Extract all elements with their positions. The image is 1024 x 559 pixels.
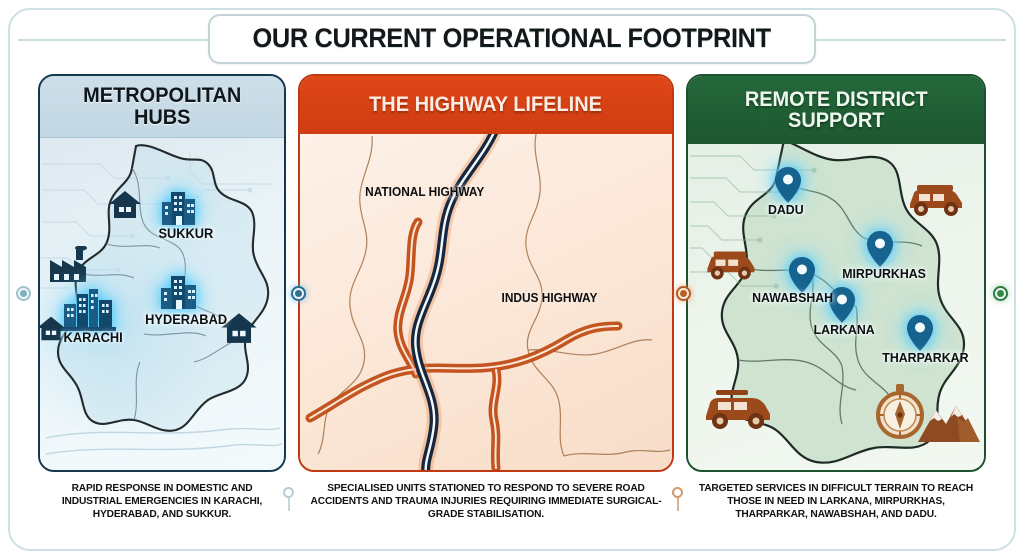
connector-node-right	[993, 286, 1008, 301]
panel-card-2: THE HIGHWAY LIFELINE	[298, 74, 674, 472]
map-pin-icon	[866, 230, 894, 268]
map-label-larkana: LARKANA	[814, 322, 875, 337]
caption-node-2-icon	[672, 487, 683, 498]
house-icon	[40, 314, 66, 342]
map-label-nawabshah: NAWABSHAH	[752, 290, 833, 305]
map-highway: NATIONAL HIGHWAY INDUS HIGHWAY	[300, 134, 672, 470]
panel-caption-2: SPECIALISED UNITS STATIONED TO RESPOND T…	[304, 482, 669, 520]
factory-icon	[48, 246, 90, 284]
map-pin-icon	[774, 166, 802, 204]
panel-title-1: METROPOLITAN HUBS	[83, 85, 241, 128]
map-label-national-highway: NATIONAL HIGHWAY	[365, 186, 484, 200]
map-label-karachi: KARACHI	[64, 330, 123, 345]
panel-header-2: THE HIGHWAY LIFELINE	[300, 76, 672, 134]
city-buildings-icon	[158, 184, 204, 230]
jeep-icon	[904, 182, 966, 218]
panel-card-1: METROPOLITAN HUBS	[38, 74, 286, 472]
map-label-tharparkar: THARPARKAR	[882, 350, 968, 365]
map-label-sukkur: SUKKUR	[158, 226, 213, 241]
house-icon	[108, 188, 142, 220]
panel-caption-1: RAPID RESPONSE IN DOMESTIC AND INDUSTRIA…	[42, 482, 283, 520]
map-label-indus-highway: INDUS HIGHWAY	[502, 292, 598, 306]
caption-stem-1	[288, 497, 290, 511]
city-buildings-icon	[158, 272, 200, 314]
suv-icon	[702, 388, 774, 432]
map-remote-districts: DADU MIRPURKHAS NAWABSHAH	[688, 144, 984, 470]
panel-caption-3: TARGETED SERVICES IN DIFFICULT TERRAIN T…	[691, 482, 982, 520]
connector-node-orange	[676, 286, 691, 301]
panel-title-3: REMOTE DISTRICT SUPPORT	[745, 89, 928, 132]
panel-highway-lifeline[interactable]: THE HIGHWAY LIFELINE	[298, 74, 674, 520]
map-pin-icon	[906, 314, 934, 352]
panel-card-3: REMOTE DISTRICT SUPPORT	[686, 74, 986, 472]
mountains-icon	[916, 388, 982, 444]
caption-stem-2	[677, 497, 679, 511]
panel-header-1: METROPOLITAN HUBS	[40, 76, 284, 138]
map-pin-icon	[788, 256, 816, 294]
panels-row: METROPOLITAN HUBS	[0, 74, 1024, 544]
map-label-hyderabad: HYDERABAD	[145, 312, 227, 327]
highway-map-graphic	[300, 134, 672, 470]
title-text: OUR CURRENT OPERATIONAL FOOTPRINT	[253, 23, 771, 54]
panel-header-3: REMOTE DISTRICT SUPPORT	[688, 76, 984, 144]
connector-node-blue	[291, 286, 306, 301]
panel-remote-district-support[interactable]: REMOTE DISTRICT SUPPORT	[686, 74, 986, 520]
page-title: OUR CURRENT OPERATIONAL FOOTPRINT	[0, 14, 1024, 64]
caption-node-1-icon	[283, 487, 294, 498]
connector-node-left	[16, 286, 31, 301]
map-label-mirpurkhas: MIRPURKHAS	[842, 266, 926, 281]
map-label-dadu: DADU	[768, 202, 804, 217]
title-box: OUR CURRENT OPERATIONAL FOOTPRINT	[208, 14, 815, 64]
city-skyline-icon	[60, 286, 116, 332]
panel-metropolitan-hubs[interactable]: METROPOLITAN HUBS	[38, 74, 286, 520]
panel-title-2: THE HIGHWAY LIFELINE	[370, 94, 603, 115]
map-metropolitan: SUKKUR	[40, 138, 284, 472]
jeep-icon	[702, 248, 758, 282]
